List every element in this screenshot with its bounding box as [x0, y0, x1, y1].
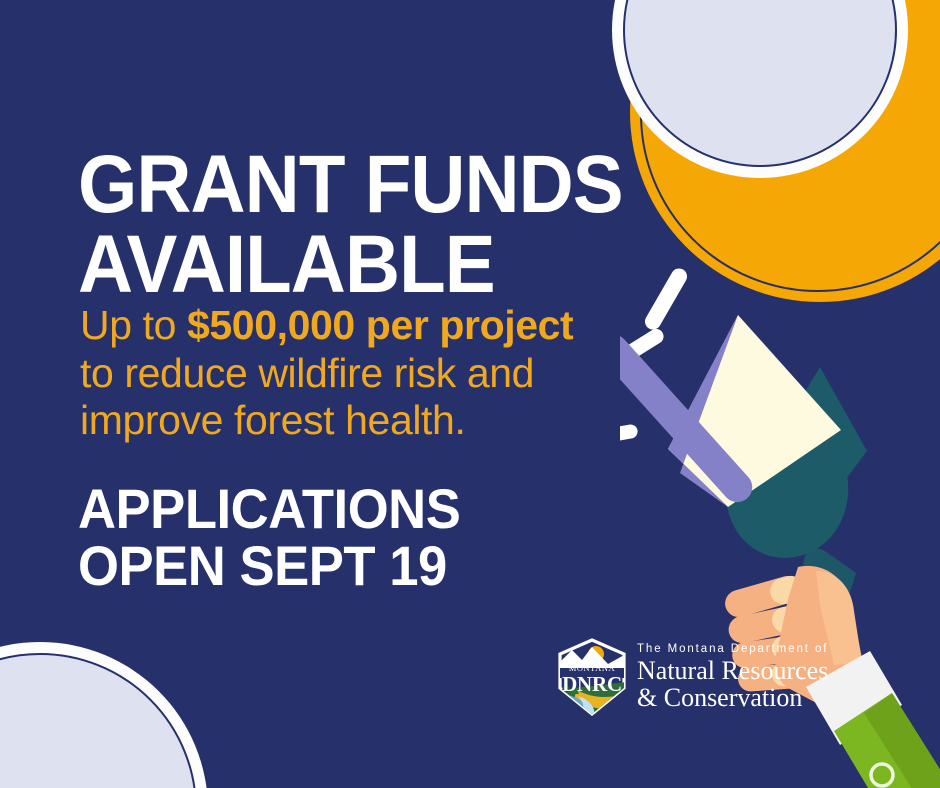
- logo-name-line-1: Natural Resources: [637, 656, 828, 685]
- headline-line-2: AVAILABLE: [78, 225, 692, 305]
- headline-line-1: GRANT FUNDS: [78, 139, 623, 230]
- bottom-left-circle-inner: [0, 653, 197, 788]
- dnrc-shield-icon: MONTANA DNRC: [556, 638, 628, 716]
- emblem-acronym-label: DNRC: [562, 672, 622, 696]
- subcopy-line-2: to reduce wildfire risk and: [80, 350, 690, 398]
- subcopy-line-1: Up to $500,000 per project: [80, 302, 690, 350]
- cta-line-2: OPEN SEPT 19: [78, 537, 460, 594]
- dnrc-logo: MONTANA DNRC The Montana Department of N…: [556, 638, 828, 716]
- cta-line-1: APPLICATIONS: [78, 477, 460, 540]
- logo-name: Natural Resources& Conservation: [637, 657, 828, 711]
- cta-text: APPLICATIONSOPEN SEPT 19: [78, 480, 460, 594]
- page-title: GRANT FUNDSAVAILABLE: [78, 145, 692, 306]
- subcopy-prefix: Up to: [80, 302, 187, 348]
- subcopy-text: Up to $500,000 per project to reduce wil…: [80, 302, 690, 445]
- poster-canvas: GRANT FUNDSAVAILABLE Up to $500,000 per …: [0, 0, 940, 788]
- subcopy-amount: $500,000 per project: [187, 302, 573, 348]
- logo-wordmark: The Montana Department of Natural Resour…: [637, 643, 828, 711]
- logo-department-line: The Montana Department of: [637, 643, 828, 656]
- logo-name-line-2: & Conservation: [637, 684, 828, 711]
- subcopy-line-3: improve forest health.: [80, 397, 690, 445]
